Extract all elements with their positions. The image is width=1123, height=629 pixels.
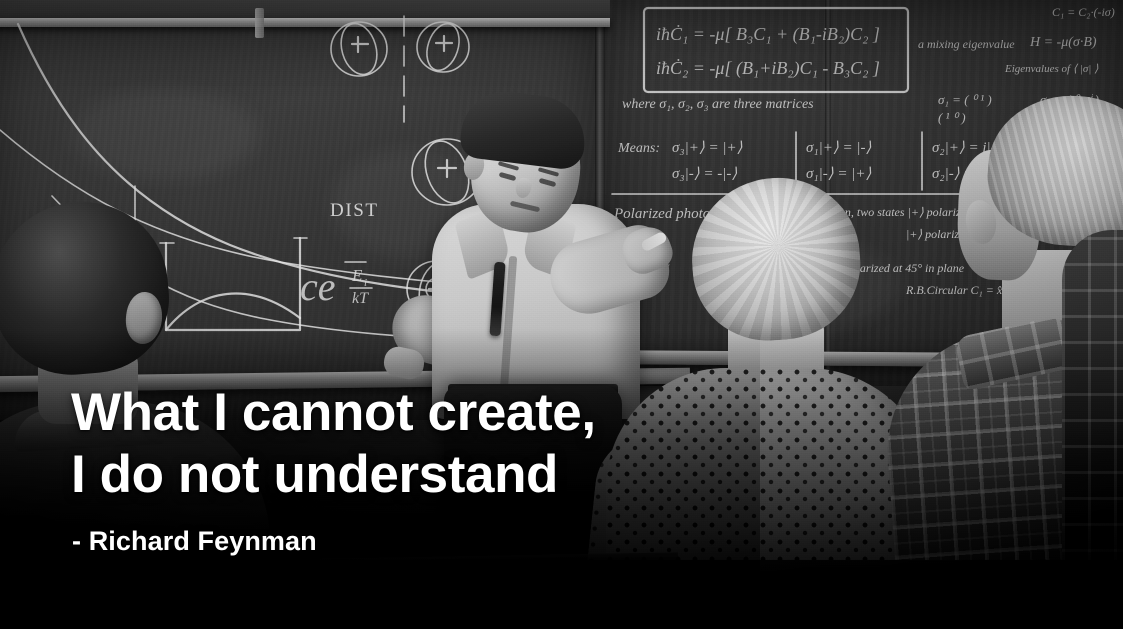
- lecturer-hair: [458, 87, 590, 172]
- board-rail: [0, 18, 610, 27]
- student-left-hair: [0, 195, 175, 382]
- quote-line-1: What I cannot create,: [71, 382, 891, 444]
- chalk-smudge: [70, 90, 260, 180]
- quote-attribution: - Richard Feynman: [72, 524, 317, 558]
- quote-card: DIST ce E i kT: [0, 0, 1123, 629]
- board-frame-top: [0, 0, 610, 18]
- quote-line-2: I do not understand: [71, 444, 891, 506]
- student-center-hair: [687, 172, 866, 345]
- board-rail-clip: [255, 8, 264, 38]
- quote-text-block: What I cannot create, I do not understan…: [71, 382, 891, 506]
- foreground-desk: [0, 560, 1123, 629]
